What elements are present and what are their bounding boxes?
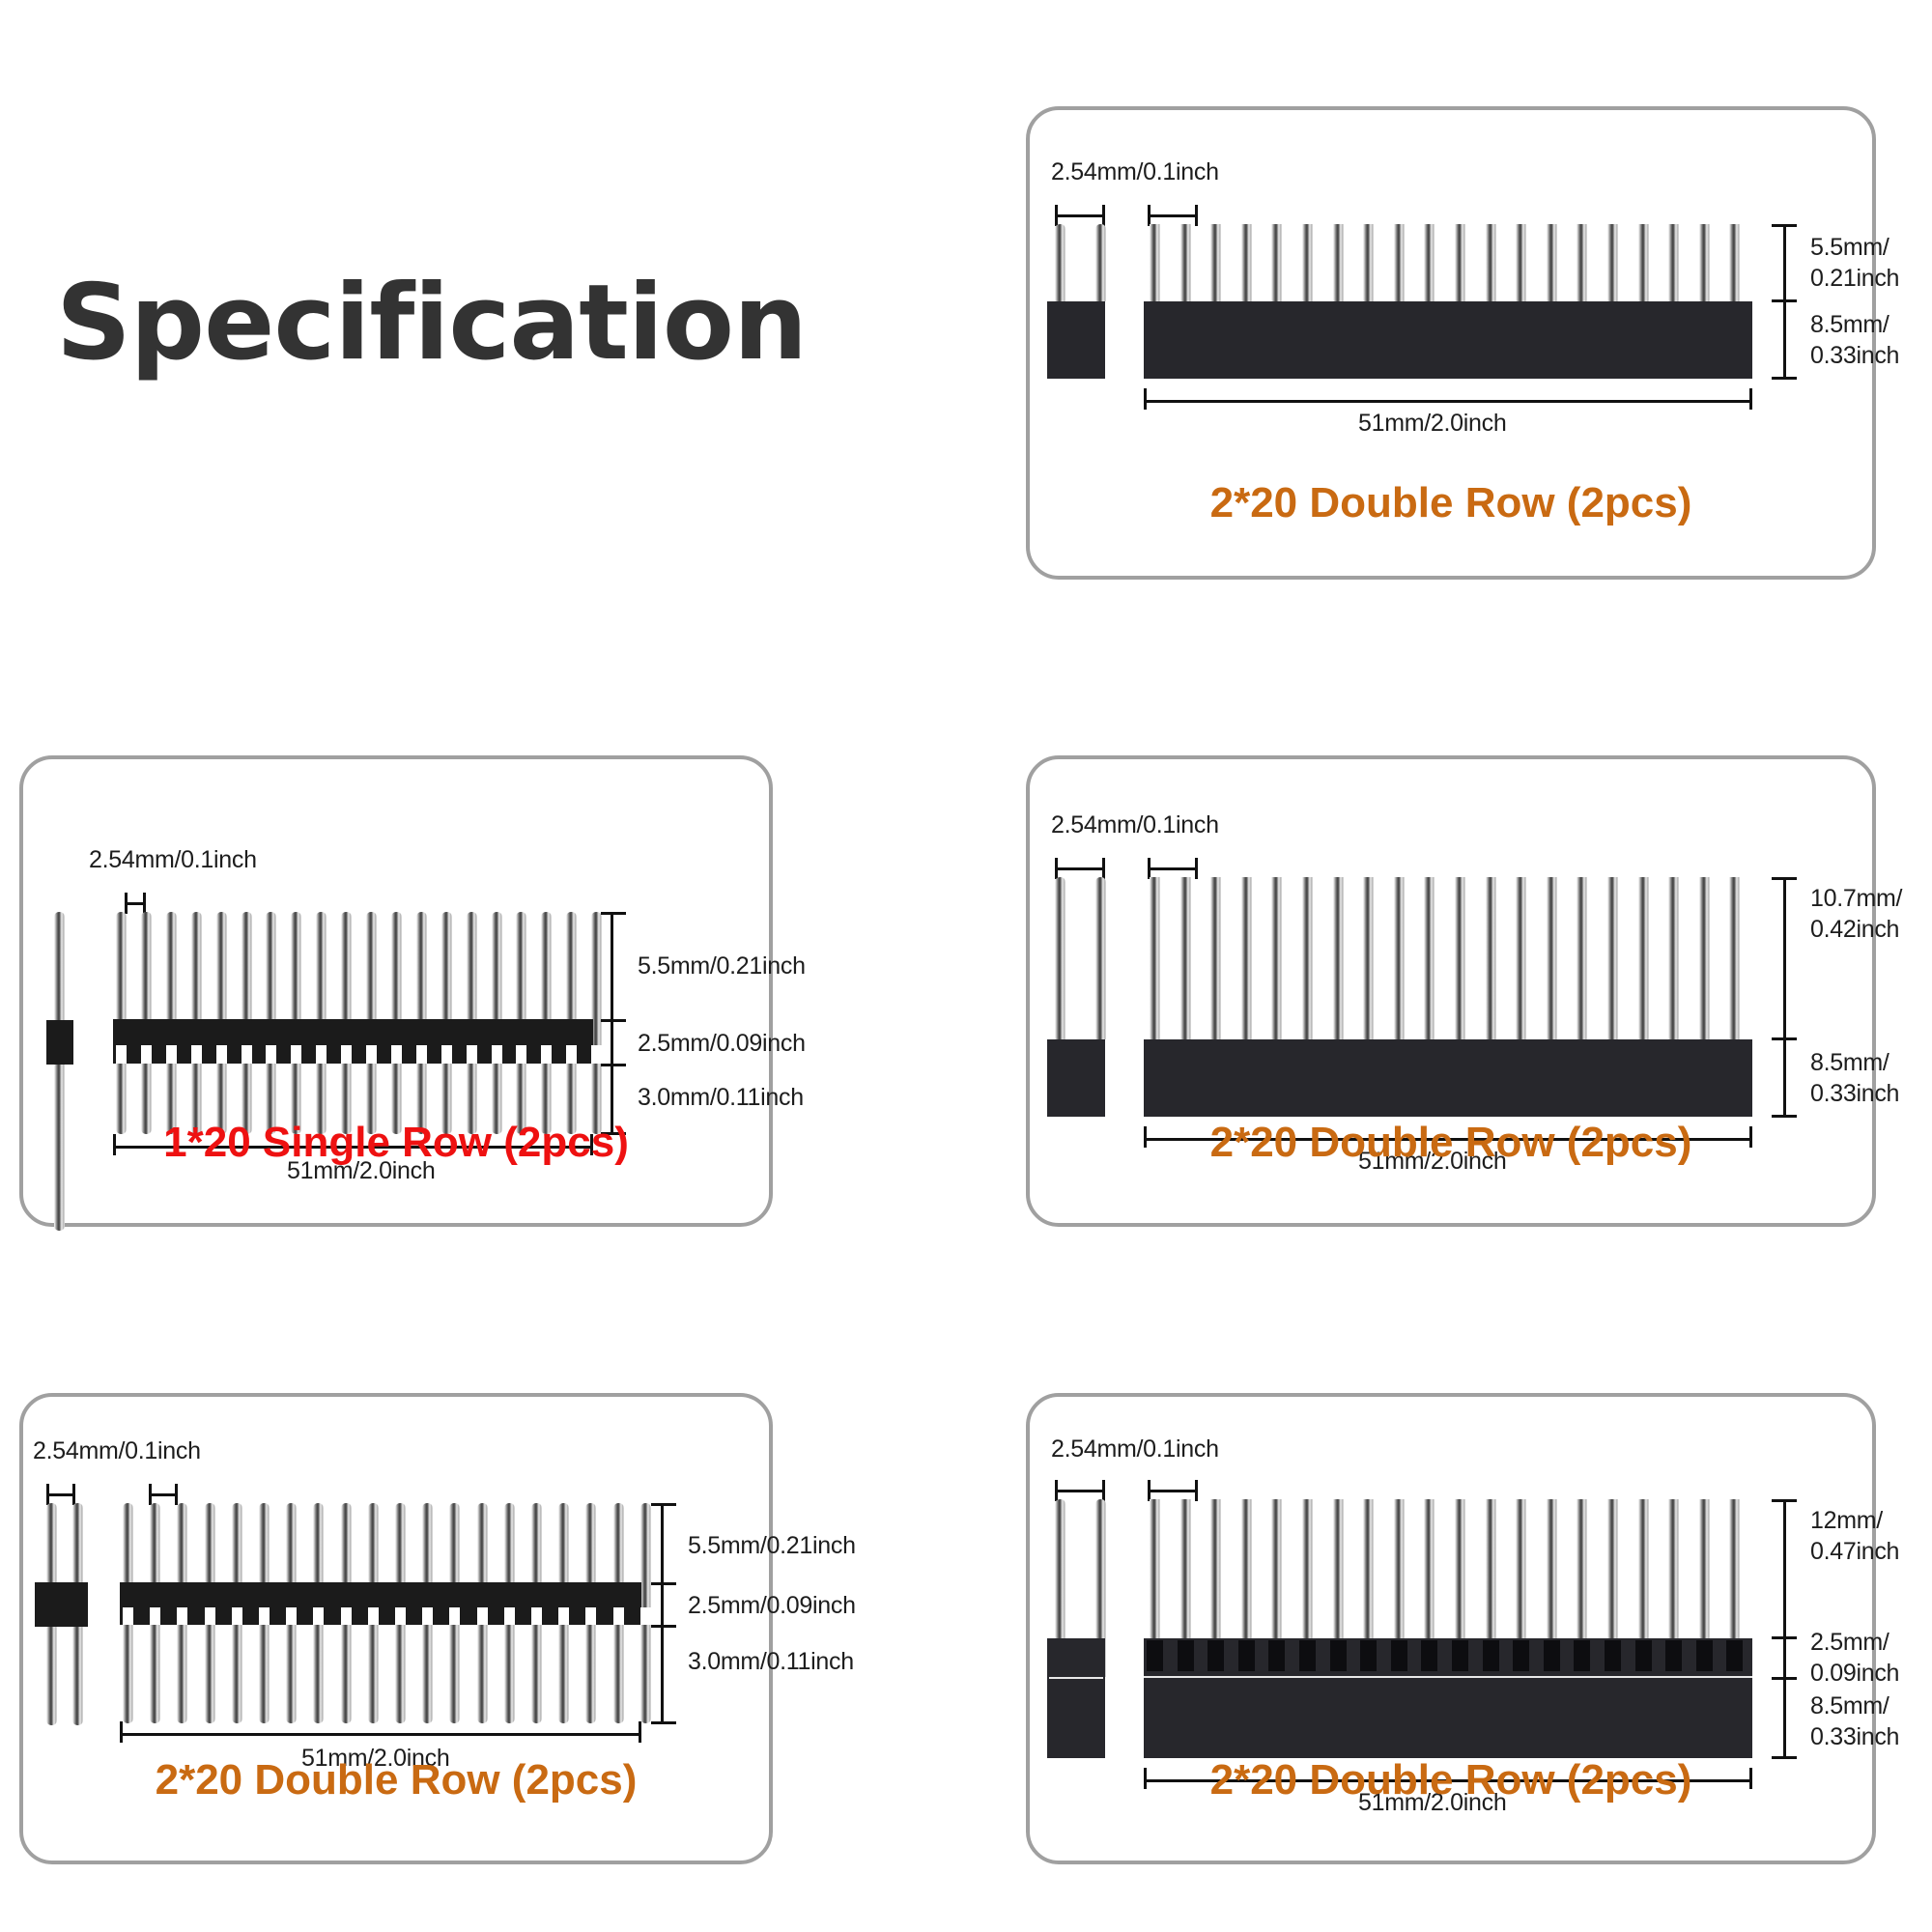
dim-cap <box>1772 1677 1797 1680</box>
shroud-slot <box>1665 1640 1682 1671</box>
length-tick <box>1749 388 1752 410</box>
pitch-bracket-main <box>1148 214 1198 217</box>
header-pin <box>1150 224 1160 303</box>
shroud-slot <box>1574 1640 1590 1671</box>
dim-pin-height-top: 5.5mm/ 0.21inch <box>1810 232 1899 294</box>
dim-shroud-height-br: 2.5mm/ 0.09inch <box>1810 1627 1899 1689</box>
body-notch <box>441 1045 452 1064</box>
body-notch <box>150 1607 160 1625</box>
pitch-tick <box>1055 1480 1058 1501</box>
dim-cap <box>1772 877 1797 880</box>
header-pin <box>1241 877 1252 1041</box>
body-notch <box>395 1607 406 1625</box>
pitch-label-br: 2.54mm/0.1inch <box>1051 1434 1219 1464</box>
header-pin <box>1333 877 1344 1041</box>
pitch-tick <box>1102 205 1105 226</box>
shroud-slot <box>1299 1640 1316 1671</box>
header-pin <box>1638 877 1649 1041</box>
dim-pin-height-mr: 10.7mm/ 0.42inch <box>1810 883 1902 945</box>
dim-cap <box>1772 224 1797 227</box>
body-notch <box>516 1045 526 1064</box>
panel-single-row: 2.54mm/0.1inch 51mm/2.0inch 5.5mm/0.21in… <box>19 755 773 1227</box>
shroud-slot <box>1544 1640 1560 1671</box>
pitch-tick <box>46 1484 49 1505</box>
header-pin <box>1607 877 1618 1041</box>
header-pin <box>1363 224 1374 303</box>
header-pin <box>1547 877 1557 1041</box>
header-pin <box>1668 877 1679 1041</box>
body-notch <box>216 1045 227 1064</box>
body-notch <box>591 1045 602 1064</box>
dim-pin-height-br: 12mm/ 0.47inch <box>1810 1505 1899 1567</box>
body-notch <box>449 1607 460 1625</box>
header-body-top <box>1144 301 1752 379</box>
dim-cap <box>651 1582 676 1585</box>
pitch-tick <box>175 1484 178 1505</box>
pitch-tick <box>1195 858 1198 879</box>
shroud-slot <box>1330 1640 1347 1671</box>
body-notch <box>259 1607 270 1625</box>
pitch-tick <box>1148 1480 1151 1501</box>
body-notch <box>241 1045 252 1064</box>
sample-shroud <box>1047 1638 1105 1679</box>
body-notch <box>467 1045 477 1064</box>
body-notch <box>177 1607 187 1625</box>
page-title: Specification <box>56 263 807 384</box>
shroud-slot <box>1513 1640 1529 1671</box>
body-notch <box>585 1607 596 1625</box>
sample-body <box>1047 1039 1105 1117</box>
header-pin <box>1210 224 1221 303</box>
body-notch <box>205 1607 215 1625</box>
header-body-br <box>1144 1679 1752 1758</box>
dim-body-ml: 2.5mm/0.09inch <box>638 1028 806 1059</box>
body-notch <box>492 1045 502 1064</box>
header-pin <box>1455 224 1465 303</box>
length-tick <box>1144 388 1147 410</box>
shroud-slot <box>1421 1640 1437 1671</box>
body-notch <box>313 1607 324 1625</box>
sample-body <box>46 1020 73 1065</box>
header-pin <box>1241 224 1252 303</box>
caption-ml: 1*20 Single Row (2pcs) <box>23 1119 769 1167</box>
header-body-bl <box>120 1582 641 1625</box>
shroud-slot <box>1207 1640 1224 1671</box>
dim-rule-pin-top <box>1783 224 1786 301</box>
header-pin <box>1150 877 1160 1041</box>
header-pin <box>1210 877 1221 1041</box>
pitch-tick <box>1195 205 1198 226</box>
body-notch <box>316 1045 327 1064</box>
pitch-bracket-main <box>1148 1490 1198 1492</box>
body-notch <box>541 1045 552 1064</box>
sample-body <box>1047 301 1105 379</box>
body-notch <box>341 1045 352 1064</box>
body-notch <box>531 1607 542 1625</box>
dim-body-height-br: 8.5mm/ 0.33inch <box>1810 1690 1899 1752</box>
dim-cap <box>1772 1636 1797 1639</box>
length-tick <box>639 1721 641 1743</box>
shroud-slot <box>1635 1640 1652 1671</box>
dim-pin-bottom-bl: 3.0mm/0.11inch <box>688 1646 854 1677</box>
caption-bl: 2*20 Double Row (2pcs) <box>23 1756 769 1804</box>
panel-double-row-male: 2.54mm/0.1inch 51mm/2.0inch 5.5mm/0.21in… <box>19 1393 773 1864</box>
body-notch <box>391 1045 402 1064</box>
dim-cap <box>601 1064 626 1066</box>
header-pin <box>1424 877 1435 1041</box>
length-label-top: 51mm/2.0inch <box>1358 408 1506 439</box>
dim-pin-top-bl: 5.5mm/0.21inch <box>688 1530 856 1561</box>
sample-pin <box>1055 877 1065 1039</box>
sample-pin <box>1095 224 1106 301</box>
body-notch <box>422 1607 433 1625</box>
caption-br: 2*20 Double Row (2pcs) <box>1030 1756 1872 1804</box>
shroud-slot <box>1178 1640 1194 1671</box>
shroud-slot <box>1147 1640 1163 1671</box>
shroud-seam <box>1144 1676 1752 1678</box>
dim-rule-ml <box>611 912 613 1134</box>
dim-rule-body-mr <box>1783 1039 1786 1117</box>
header-pin <box>1668 224 1679 303</box>
body-notch <box>232 1607 242 1625</box>
dim-cap <box>601 1019 626 1022</box>
panel-double-row-tall: 2.54mm/0.1inch 51mm/2.0inch 10.7mm/ 0.42… <box>1026 755 1876 1227</box>
body-notch <box>341 1607 352 1625</box>
body-notch <box>477 1607 488 1625</box>
pitch-bracket-main <box>1148 867 1198 870</box>
body-notch <box>504 1607 515 1625</box>
header-body-ml <box>113 1019 593 1064</box>
shroud-slot <box>1238 1640 1255 1671</box>
header-pin <box>1302 224 1313 303</box>
dim-cap <box>651 1625 676 1628</box>
dim-cap <box>651 1503 676 1506</box>
sample-pin <box>1095 877 1106 1039</box>
shroud-slot <box>1696 1640 1713 1671</box>
header-pin <box>1699 877 1710 1041</box>
dim-body-bl: 2.5mm/0.09inch <box>688 1590 856 1621</box>
pitch-bracket-side <box>46 1493 75 1496</box>
pitch-tick <box>72 1484 75 1505</box>
body-notch <box>191 1045 202 1064</box>
header-pin <box>1455 877 1465 1041</box>
header-pin <box>1271 224 1282 303</box>
body-notch <box>613 1607 624 1625</box>
pitch-tick <box>1055 858 1058 879</box>
shroud-slot <box>1268 1640 1285 1671</box>
pitch-tick <box>1102 858 1105 879</box>
body-notch <box>640 1607 651 1625</box>
shroud-slot <box>1605 1640 1621 1671</box>
header-pin <box>1729 224 1740 303</box>
body-notch <box>291 1045 301 1064</box>
header-body-mr <box>1144 1039 1752 1117</box>
header-pin <box>1271 877 1282 1041</box>
header-pin <box>1577 224 1587 303</box>
pitch-bracket-main <box>149 1493 178 1496</box>
pitch-bracket-side <box>1055 867 1105 870</box>
body-notch <box>166 1045 177 1064</box>
shroud-slot <box>1360 1640 1377 1671</box>
length-rule-top <box>1144 400 1752 403</box>
sample-body <box>35 1582 88 1627</box>
header-pin <box>1729 877 1740 1041</box>
length-rule-bl <box>120 1733 641 1736</box>
shroud-slot <box>1483 1640 1499 1671</box>
dim-cap <box>1772 1499 1797 1502</box>
header-pin <box>1180 224 1191 303</box>
header-pin <box>1394 224 1405 303</box>
shroud-slot <box>1391 1640 1407 1671</box>
header-pin <box>1607 224 1618 303</box>
header-pin <box>1547 224 1557 303</box>
body-notch <box>123 1607 133 1625</box>
header-pin <box>1577 877 1587 1041</box>
body-notch <box>286 1607 297 1625</box>
pitch-bracket-side <box>1055 1490 1105 1492</box>
dim-rule-br <box>1783 1499 1786 1758</box>
pitch-tick <box>1148 205 1151 226</box>
pitch-label-bl: 2.54mm/0.1inch <box>33 1435 201 1466</box>
body-notch <box>116 1045 127 1064</box>
sample-pin <box>54 912 65 1231</box>
length-tick <box>120 1721 123 1743</box>
shroud-slot <box>1452 1640 1468 1671</box>
pitch-label-mr: 2.54mm/0.1inch <box>1051 810 1219 840</box>
header-pin <box>1302 877 1313 1041</box>
sample-seam <box>1049 1677 1103 1679</box>
caption-mr: 2*20 Double Row (2pcs) <box>1030 1119 1872 1167</box>
dim-rule-body-top <box>1783 301 1786 379</box>
pitch-label-top: 2.54mm/0.1inch <box>1051 156 1219 187</box>
pitch-tick <box>1195 1480 1198 1501</box>
header-pin <box>1699 224 1710 303</box>
header-pin <box>1394 877 1405 1041</box>
header-shroud-br <box>1144 1638 1752 1679</box>
header-pin <box>1486 224 1496 303</box>
panel-stacking-double-row: 2.54mm/0.1inch 51mm/2.0inch 12mm/ 0.47in… <box>1026 1393 1876 1864</box>
pitch-tick <box>149 1484 152 1505</box>
dim-body-height-top: 8.5mm/ 0.33inch <box>1810 309 1899 371</box>
header-pin <box>1363 877 1374 1041</box>
dim-cap <box>601 912 626 915</box>
body-notch <box>141 1045 152 1064</box>
header-pin <box>1486 877 1496 1041</box>
header-pin <box>1180 877 1191 1041</box>
dim-pin-bottom-ml: 3.0mm/0.11inch <box>638 1082 804 1113</box>
body-notch <box>566 1045 577 1064</box>
body-notch <box>266 1045 276 1064</box>
header-pin <box>1333 224 1344 303</box>
pitch-tick <box>125 893 128 914</box>
dim-rule-bl <box>661 1503 664 1723</box>
sample-pin <box>1055 224 1065 301</box>
dim-cap <box>1772 377 1797 380</box>
dim-cap <box>651 1721 676 1724</box>
pitch-bracket-side <box>1055 214 1105 217</box>
header-pin <box>1424 224 1435 303</box>
pitch-tick <box>1148 858 1151 879</box>
body-notch <box>366 1045 377 1064</box>
pitch-tick <box>1055 205 1058 226</box>
header-pin <box>1638 224 1649 303</box>
shroud-slot <box>1726 1640 1743 1671</box>
header-pin <box>1516 877 1526 1041</box>
dim-body-height-mr: 8.5mm/ 0.33inch <box>1810 1047 1899 1109</box>
pitch-tick <box>1102 1480 1105 1501</box>
body-notch <box>416 1045 427 1064</box>
pitch-tick <box>143 893 146 914</box>
dim-cap <box>1772 1115 1797 1118</box>
header-pin <box>1516 224 1526 303</box>
caption-top: 2*20 Double Row (2pcs) <box>1030 479 1872 527</box>
dim-rule-pin-mr <box>1783 877 1786 1039</box>
dim-pin-top-ml: 5.5mm/0.21inch <box>638 951 806 981</box>
body-notch <box>368 1607 379 1625</box>
body-notch <box>558 1607 569 1625</box>
sample-body <box>1047 1679 1105 1758</box>
panel-top-double-row: 2.54mm/0.1inch 51mm/2.0inch 5.5mm/ 0.21i… <box>1026 106 1876 580</box>
pitch-label-ml: 2.54mm/0.1inch <box>89 844 257 875</box>
